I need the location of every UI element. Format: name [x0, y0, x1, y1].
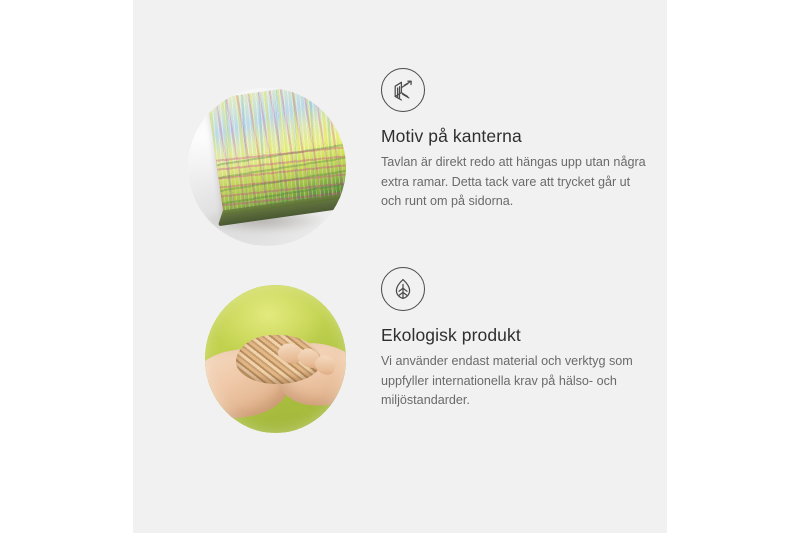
leaf-icon	[381, 267, 425, 311]
feature-block-canvas-edges: Motiv på kanterna Tavlan är direkt redo …	[133, 60, 667, 270]
feature-text-eco-product: Ekologisk produkt Vi använder endast mat…	[381, 267, 661, 411]
leaf-glyph	[391, 277, 415, 301]
wood-chips-in-hands-photo	[205, 285, 346, 433]
feature-block-eco-product: Ekologisk produkt Vi använder endast mat…	[133, 255, 667, 455]
feature-title: Motiv på kanterna	[381, 126, 661, 147]
feature-description: Vi använder endast material och verktyg …	[381, 352, 649, 411]
product-feature-banner: Motiv på kanterna Tavlan är direkt redo …	[0, 0, 800, 533]
feature-text-canvas-edges: Motiv på kanterna Tavlan är direkt redo …	[381, 68, 661, 212]
feature-description: Tavlan är direkt redo att hängas upp uta…	[381, 153, 649, 212]
canvas-artwork	[207, 88, 346, 215]
feature-title: Ekologisk produkt	[381, 325, 661, 346]
content-panel: Motiv på kanterna Tavlan är direkt redo …	[133, 0, 667, 533]
canvas-wrap-edge-glyph	[391, 78, 415, 102]
canvas-print-photo	[188, 88, 346, 246]
canvas-wrap-edge-icon	[381, 68, 425, 112]
